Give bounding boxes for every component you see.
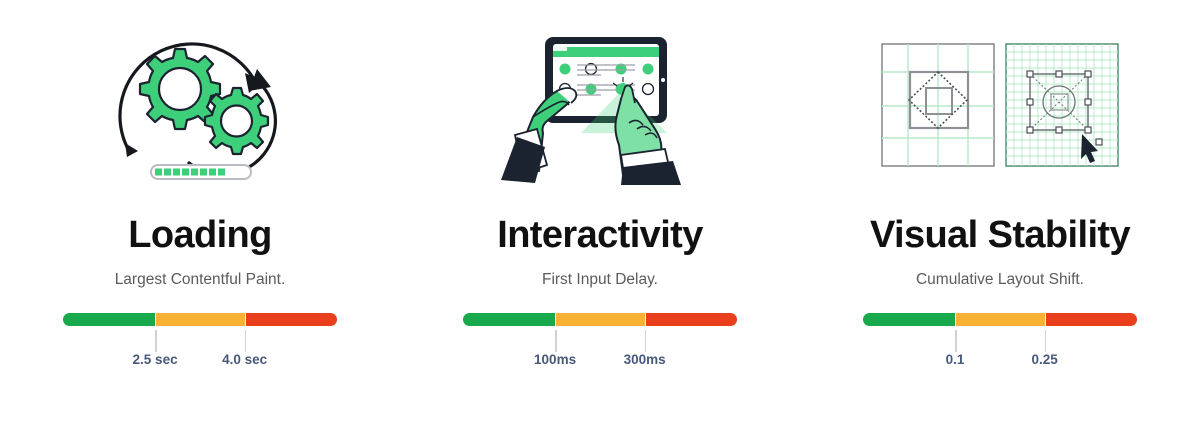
threshold-bar bbox=[863, 313, 1137, 326]
progress-bar-illustration bbox=[151, 165, 251, 179]
threshold-scale: 0.1 0.25 bbox=[863, 313, 1137, 372]
threshold-label-first: 100ms bbox=[534, 352, 576, 367]
segment-poor bbox=[1046, 313, 1137, 326]
segment-poor bbox=[246, 313, 337, 326]
hands-tablet-illustration bbox=[400, 20, 800, 190]
metric-title: Interactivity bbox=[497, 216, 703, 254]
fine-grid-panel bbox=[1006, 44, 1118, 166]
threshold-labels: 2.5 sec 4.0 sec bbox=[63, 352, 337, 372]
segment-needs-improvement bbox=[156, 313, 245, 326]
gears-loading-illustration bbox=[0, 20, 400, 190]
coarse-grid-panel bbox=[882, 44, 994, 166]
layout-grid-illustration bbox=[800, 20, 1200, 190]
threshold-ticks bbox=[63, 326, 337, 352]
metric-card-interactivity: Interactivity First Input Delay. 100ms 3… bbox=[400, 0, 800, 440]
metric-subtitle: Cumulative Layout Shift. bbox=[916, 271, 1084, 289]
tick-mark-first bbox=[955, 330, 957, 352]
threshold-labels: 0.1 0.25 bbox=[863, 352, 1137, 372]
segment-poor bbox=[646, 313, 737, 326]
segment-needs-improvement bbox=[956, 313, 1045, 326]
metric-card-visual-stability: Visual Stability Cumulative Layout Shift… bbox=[800, 0, 1200, 440]
threshold-label-first: 2.5 sec bbox=[133, 352, 178, 367]
threshold-scale: 100ms 300ms bbox=[463, 313, 737, 372]
threshold-label-second: 0.25 bbox=[1032, 352, 1058, 367]
threshold-label-second: 300ms bbox=[624, 352, 666, 367]
metric-subtitle: Largest Contentful Paint. bbox=[115, 271, 286, 289]
gear-small bbox=[205, 88, 268, 154]
threshold-label-second: 4.0 sec bbox=[222, 352, 267, 367]
segment-good bbox=[463, 313, 555, 326]
metric-card-loading: Loading Largest Contentful Paint. 2.5 se… bbox=[0, 0, 400, 440]
metric-subtitle: First Input Delay. bbox=[542, 271, 658, 289]
threshold-ticks bbox=[463, 326, 737, 352]
tick-mark-first bbox=[155, 330, 157, 352]
threshold-bar bbox=[63, 313, 337, 326]
hands-tablet-tap-icon bbox=[495, 25, 705, 185]
left-hand bbox=[501, 88, 576, 183]
threshold-bar bbox=[463, 313, 737, 326]
layout-grid-shift-icon bbox=[870, 30, 1130, 180]
segment-good bbox=[63, 313, 155, 326]
tick-mark-second bbox=[645, 330, 647, 352]
tick-mark-first bbox=[555, 330, 557, 352]
metric-title: Loading bbox=[128, 216, 272, 254]
core-web-vitals-panel: Loading Largest Contentful Paint. 2.5 se… bbox=[0, 0, 1200, 440]
tick-mark-second bbox=[1045, 330, 1047, 352]
segment-good bbox=[863, 313, 955, 326]
gears-loading-icon bbox=[105, 25, 295, 185]
threshold-ticks bbox=[863, 326, 1137, 352]
threshold-label-first: 0.1 bbox=[946, 352, 965, 367]
tick-mark-second bbox=[245, 330, 247, 352]
metric-title: Visual Stability bbox=[870, 216, 1130, 254]
threshold-labels: 100ms 300ms bbox=[463, 352, 737, 372]
threshold-scale: 2.5 sec 4.0 sec bbox=[63, 313, 337, 372]
segment-needs-improvement bbox=[556, 313, 645, 326]
